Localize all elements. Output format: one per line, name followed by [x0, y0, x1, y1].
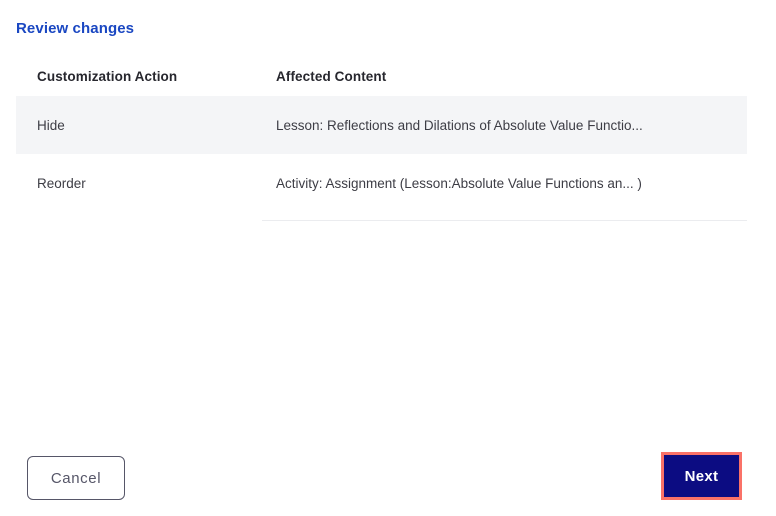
page-title: Review changes	[16, 20, 134, 37]
table-header-row: Customization Action Affected Content	[0, 56, 776, 96]
column-header-customization-action: Customization Action	[0, 69, 262, 84]
cancel-button[interactable]: Cancel	[27, 456, 125, 500]
column-header-affected-content: Affected Content	[262, 69, 776, 84]
table-row[interactable]: Reorder Activity: Assignment (Lesson:Abs…	[0, 154, 776, 212]
next-button-focus-ring: Next	[661, 452, 742, 500]
cell-customization-action: Reorder	[0, 176, 262, 191]
review-changes-dialog: Review changes Customization Action Affe…	[0, 0, 776, 516]
cell-customization-action: Hide	[16, 118, 262, 133]
table-row[interactable]: Hide Lesson: Reflections and Dilations o…	[16, 96, 747, 154]
cell-affected-content: Activity: Assignment (Lesson:Absolute Va…	[262, 176, 776, 191]
next-button[interactable]: Next	[664, 455, 739, 497]
review-changes-table: Customization Action Affected Content Hi…	[0, 56, 776, 212]
cell-affected-content: Lesson: Reflections and Dilations of Abs…	[262, 118, 747, 133]
table-row-divider	[262, 220, 747, 221]
